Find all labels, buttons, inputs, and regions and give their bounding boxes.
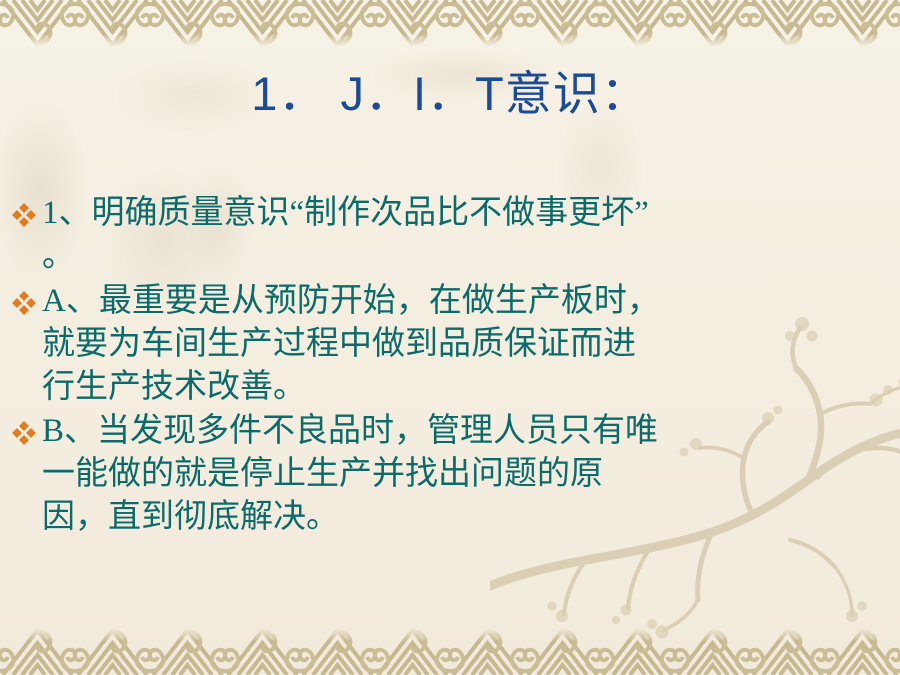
decorative-border-bottom [0, 628, 900, 675]
bullet-line: A、最重要是从预防开始，在做生产板时， [42, 280, 888, 323]
bullet-item: B、当发现多件不良品时，管理人员只有唯 一能做的就是停止生产并找出问题的原 因，… [12, 410, 888, 539]
presentation-slide: 1． J．I．T意识： 1、明确质量意识“制作次品比不做事更坏” 。 [0, 0, 900, 675]
bullet-item: 1、明确质量意识“制作次品比不做事更坏” 。 [12, 192, 888, 278]
diamond-bullet-icon [12, 192, 42, 227]
bullet-line: 。 [42, 235, 888, 278]
slide-title-block: 1． J．I．T意识： [0, 68, 900, 121]
bullet-line: 一能做的就是停止生产并找出问题的原 [42, 453, 888, 496]
slide-title: 1． J．I．T意识： [251, 68, 648, 121]
bullet-line: B、当发现多件不良品时，管理人员只有唯 [42, 410, 888, 453]
bullet-text: B、当发现多件不良品时，管理人员只有唯 一能做的就是停止生产并找出问题的原 因，… [42, 410, 888, 539]
diamond-bullet-icon [12, 410, 42, 445]
bullet-text: 1、明确质量意识“制作次品比不做事更坏” 。 [42, 192, 888, 278]
slide-body: 1、明确质量意识“制作次品比不做事更坏” 。 A、最重要是从预防开始，在做生产板… [12, 192, 888, 541]
bullet-item: A、最重要是从预防开始，在做生产板时， 就要为车间生产过程中做到品质保证而进 行… [12, 280, 888, 409]
decorative-border-top [0, 0, 900, 47]
diamond-bullet-icon [12, 280, 42, 315]
bullet-text: A、最重要是从预防开始，在做生产板时， 就要为车间生产过程中做到品质保证而进 行… [42, 280, 888, 409]
bullet-line: 行生产技术改善。 [42, 366, 888, 409]
bullet-line: 因，直到彻底解决。 [42, 496, 888, 539]
bullet-line: 就要为车间生产过程中做到品质保证而进 [42, 323, 888, 366]
bullet-line: 1、明确质量意识“制作次品比不做事更坏” [42, 192, 888, 235]
